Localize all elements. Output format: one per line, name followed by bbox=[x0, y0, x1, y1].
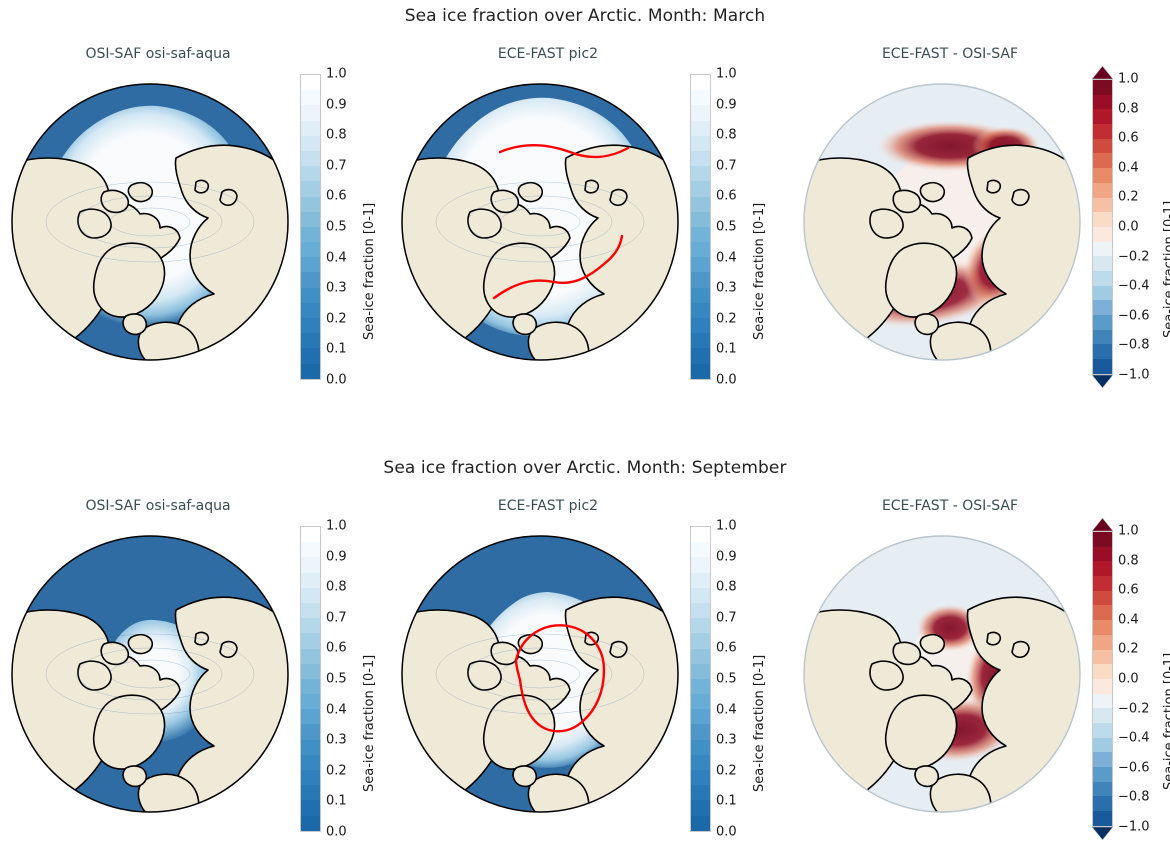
colorbar-band bbox=[691, 227, 710, 242]
colorbar-band bbox=[1093, 183, 1112, 198]
globe-svg bbox=[8, 72, 292, 372]
colorbar-tick-label: −0.2 bbox=[1118, 249, 1150, 264]
colorbar-band bbox=[691, 75, 710, 90]
colorbar-band bbox=[691, 318, 710, 333]
colorbar-tick-label: 0.4 bbox=[326, 250, 347, 265]
colorbar-tick-label: −1.0 bbox=[1118, 368, 1150, 383]
colorbar-tick-label: 1.0 bbox=[1118, 72, 1139, 87]
colorbar-band bbox=[691, 724, 710, 739]
colorbar-band bbox=[301, 272, 320, 287]
colorbar-tick-label: 0.4 bbox=[716, 250, 737, 265]
colorbar-band bbox=[691, 105, 710, 120]
row-suptitle-march: Sea ice fraction over Arctic. Month: Mar… bbox=[0, 6, 1170, 26]
colorbar-band bbox=[1093, 723, 1112, 738]
colorbar-band bbox=[301, 785, 320, 800]
colorbar-band bbox=[301, 573, 320, 588]
colorbar-band bbox=[691, 603, 710, 618]
colorbar-tick-label: 0.9 bbox=[716, 97, 737, 112]
colorbar-band bbox=[1093, 139, 1112, 154]
colorbar-tick-label: 0.8 bbox=[716, 128, 737, 143]
map-march-obs bbox=[8, 72, 292, 372]
colorbar-tick-label: 0.5 bbox=[716, 220, 737, 235]
colorbar-band bbox=[691, 755, 710, 770]
colorbar-band bbox=[691, 136, 710, 151]
colorbar-tick-label: 0.4 bbox=[1118, 160, 1139, 175]
colorbar-band bbox=[1093, 242, 1112, 257]
colorbar-band bbox=[1093, 532, 1112, 547]
colorbar-extend-top bbox=[1092, 66, 1113, 79]
colorbar-band bbox=[301, 121, 320, 136]
colorbar-band bbox=[691, 348, 710, 363]
colorbar-tick-label: 0.8 bbox=[326, 128, 347, 143]
colorbar-tick-label: 0.8 bbox=[1118, 553, 1139, 568]
colorbar-band bbox=[1093, 344, 1112, 359]
colorbar-tick-label: 1.0 bbox=[716, 67, 737, 82]
colorbar-band bbox=[691, 649, 710, 664]
colorbar-band bbox=[691, 618, 710, 633]
colorbar-axis-label: Sea-ice fraction [0-1] bbox=[752, 655, 767, 792]
colorbar-tick-label: −0.8 bbox=[1118, 338, 1150, 353]
colorbar-band bbox=[1093, 359, 1112, 374]
colorbar-tick-label: 0.0 bbox=[716, 825, 737, 840]
colorbar-band bbox=[1093, 330, 1112, 345]
colorbar-band bbox=[1093, 271, 1112, 286]
panel-title-march-difference: ECE-FAST - OSI-SAF bbox=[800, 46, 1100, 62]
colorbar-band bbox=[301, 679, 320, 694]
colorbar-band bbox=[1093, 547, 1112, 562]
colorbar-tick-label: 0.4 bbox=[716, 702, 737, 717]
colorbar-tick-label: −0.6 bbox=[1118, 760, 1150, 775]
colorbar-tick-label: 0.8 bbox=[1118, 101, 1139, 116]
colorbar-band bbox=[301, 603, 320, 618]
colorbar-band bbox=[1093, 124, 1112, 139]
colorbar-band bbox=[301, 755, 320, 770]
colorbar-band bbox=[1093, 708, 1112, 723]
colorbar-tick-label: 0.2 bbox=[716, 763, 737, 778]
colorbar-tick-label: 1.0 bbox=[326, 519, 347, 534]
colorbar-band bbox=[301, 800, 320, 815]
colorbar-extend-top bbox=[1092, 518, 1113, 531]
colorbar-band bbox=[691, 121, 710, 136]
colorbar-band bbox=[691, 166, 710, 181]
colorbar-band bbox=[301, 166, 320, 181]
colorbar-band bbox=[301, 364, 320, 379]
colorbar-band bbox=[1093, 796, 1112, 811]
colorbar-band bbox=[691, 151, 710, 166]
colorbar-tick-label: 1.0 bbox=[1118, 524, 1139, 539]
colorbar-tick-label: 1.0 bbox=[716, 519, 737, 534]
colorbar-band bbox=[691, 664, 710, 679]
globe-svg bbox=[398, 72, 682, 372]
colorbar-tick-label: 0.7 bbox=[716, 158, 737, 173]
colorbar-tick-label: 0.1 bbox=[716, 342, 737, 357]
colorbar-band bbox=[691, 272, 710, 287]
globe-svg bbox=[800, 72, 1084, 372]
colorbar-tick-label: −0.4 bbox=[1118, 279, 1150, 294]
colorbar-band bbox=[301, 333, 320, 348]
colorbar-tick-label: 0.4 bbox=[326, 702, 347, 717]
colorbar-band bbox=[691, 333, 710, 348]
colorbar-band bbox=[1093, 227, 1112, 242]
colorbar-band bbox=[1093, 782, 1112, 797]
colorbar-tick-label: 0.4 bbox=[1118, 612, 1139, 627]
colorbar-tick-label: −0.4 bbox=[1118, 731, 1150, 746]
colorbar-band bbox=[1093, 315, 1112, 330]
colorbar-gradient bbox=[1092, 79, 1113, 375]
colorbar-tick-label: 0.7 bbox=[326, 610, 347, 625]
colorbar-band bbox=[691, 770, 710, 785]
colorbar-ticks: 1.00.90.80.70.60.50.40.30.20.10.0 bbox=[716, 74, 776, 380]
colorbar-band bbox=[301, 105, 320, 120]
colorbar-band bbox=[1093, 198, 1112, 213]
colorbar-ticks: 1.00.90.80.70.60.50.40.30.20.10.0 bbox=[326, 526, 386, 832]
row-suptitle-september: Sea ice fraction over Arctic. Month: Sep… bbox=[0, 458, 1170, 478]
colorbar-band bbox=[1093, 650, 1112, 665]
colorbar-band bbox=[301, 649, 320, 664]
colorbar-tick-label: 0.6 bbox=[1118, 583, 1139, 598]
colorbar-band bbox=[1093, 153, 1112, 168]
map-september-obs bbox=[8, 524, 292, 824]
colorbar-band bbox=[1093, 811, 1112, 826]
colorbar-tick-label: 0.7 bbox=[716, 610, 737, 625]
colorbar-tick-label: 0.1 bbox=[326, 794, 347, 809]
colorbar-tick-label: 1.0 bbox=[326, 67, 347, 82]
colorbar-band bbox=[1093, 256, 1112, 271]
colorbar-band bbox=[301, 288, 320, 303]
colorbar-tick-label: 0.2 bbox=[326, 763, 347, 778]
colorbar-tick-label: 0.6 bbox=[716, 189, 737, 204]
colorbar-tick-label: −0.2 bbox=[1118, 701, 1150, 716]
colorbar-axis-label: Sea-ice fraction [0-1] bbox=[362, 203, 377, 340]
colorbar-tick-label: 0.1 bbox=[326, 342, 347, 357]
map-september-model bbox=[398, 524, 682, 824]
colorbar-band bbox=[1093, 561, 1112, 576]
panel-title-september-difference: ECE-FAST - OSI-SAF bbox=[800, 498, 1100, 514]
panel-march-difference: ECE-FAST - OSI-SAF bbox=[780, 46, 1170, 398]
colorbar-band bbox=[691, 242, 710, 257]
colorbar-tick-label: 0.9 bbox=[716, 549, 737, 564]
colorbar-band bbox=[691, 633, 710, 648]
panel-march-obs: OSI-SAF osi-saf-aqua bbox=[0, 46, 390, 398]
colorbar-tick-label: 0.0 bbox=[1118, 672, 1139, 687]
figure-row-march: Sea ice fraction over Arctic. Month: Mar… bbox=[0, 0, 1170, 422]
colorbar-band bbox=[301, 770, 320, 785]
colorbar-band bbox=[301, 633, 320, 648]
colorbar-band bbox=[301, 318, 320, 333]
colorbar-gradient bbox=[300, 74, 321, 380]
colorbar-tick-label: 0.1 bbox=[716, 794, 737, 809]
colorbar-tick-label: 0.2 bbox=[1118, 642, 1139, 657]
colorbar-band bbox=[301, 136, 320, 151]
colorbar-band bbox=[691, 364, 710, 379]
colorbar-tick-label: 0.9 bbox=[326, 549, 347, 564]
colorbar-tick-label: 0.6 bbox=[716, 641, 737, 656]
colorbar-band bbox=[301, 348, 320, 363]
colorbar-band bbox=[301, 694, 320, 709]
colorbar-band bbox=[301, 816, 320, 831]
colorbar-gradient bbox=[300, 526, 321, 832]
colorbar-band bbox=[1093, 694, 1112, 709]
colorbar-band bbox=[301, 227, 320, 242]
map-march-model bbox=[398, 72, 682, 372]
colorbar-band bbox=[301, 527, 320, 542]
colorbar-band bbox=[301, 588, 320, 603]
colorbar-tick-label: 0.2 bbox=[1118, 190, 1139, 205]
colorbar-band bbox=[301, 181, 320, 196]
colorbar-band bbox=[301, 151, 320, 166]
colorbar-band bbox=[301, 542, 320, 557]
colorbar-band bbox=[691, 197, 710, 212]
colorbar-axis-label: Sea-ice fraction [0-1] bbox=[1162, 653, 1170, 790]
colorbar-tick-label: −1.0 bbox=[1118, 820, 1150, 835]
colorbar-band bbox=[691, 527, 710, 542]
colorbar-band bbox=[1093, 738, 1112, 753]
colorbar-band bbox=[301, 75, 320, 90]
colorbar-band bbox=[691, 288, 710, 303]
colorbar-band bbox=[691, 800, 710, 815]
panel-title-september-model: ECE-FAST pic2 bbox=[398, 498, 698, 514]
figure-row-september: Sea ice fraction over Arctic. Month: Sep… bbox=[0, 422, 1170, 844]
colorbar-band bbox=[1093, 168, 1112, 183]
panel-title-march-model: ECE-FAST pic2 bbox=[398, 46, 698, 62]
globe-svg bbox=[8, 524, 292, 824]
colorbar-band bbox=[1093, 80, 1112, 95]
colorbar-extend-bottom bbox=[1092, 827, 1113, 840]
colorbar-gradient bbox=[690, 74, 711, 380]
colorbar-band bbox=[691, 257, 710, 272]
colorbar-tick-label: 0.0 bbox=[1118, 220, 1139, 235]
colorbar-band bbox=[691, 557, 710, 572]
panel-title-march-obs: OSI-SAF osi-saf-aqua bbox=[8, 46, 308, 62]
colorbar-tick-label: 0.3 bbox=[716, 733, 737, 748]
colorbar-ticks: 1.00.90.80.70.60.50.40.30.20.10.0 bbox=[326, 74, 386, 380]
panel-title-september-obs: OSI-SAF osi-saf-aqua bbox=[8, 498, 308, 514]
colorbar-tick-label: 0.8 bbox=[716, 580, 737, 595]
colorbar-ticks: 1.00.90.80.70.60.50.40.30.20.10.0 bbox=[716, 526, 776, 832]
colorbar-band bbox=[1093, 109, 1112, 124]
colorbar-band bbox=[691, 740, 710, 755]
colorbar-band bbox=[1093, 752, 1112, 767]
globe-svg bbox=[398, 524, 682, 824]
colorbar-band bbox=[1093, 591, 1112, 606]
globe-svg bbox=[800, 524, 1084, 824]
colorbar-tick-label: −0.6 bbox=[1118, 308, 1150, 323]
colorbar-band bbox=[1093, 605, 1112, 620]
colorbar-band bbox=[301, 664, 320, 679]
colorbar-tick-label: 0.6 bbox=[326, 641, 347, 656]
colorbar-band bbox=[691, 181, 710, 196]
colorbar-tick-label: 0.6 bbox=[326, 189, 347, 204]
colorbar-band bbox=[691, 679, 710, 694]
colorbar-gradient bbox=[690, 526, 711, 832]
colorbar-band bbox=[1093, 635, 1112, 650]
colorbar-band bbox=[1093, 576, 1112, 591]
colorbar-band bbox=[1093, 664, 1112, 679]
colorbar-tick-label: 0.3 bbox=[326, 281, 347, 296]
colorbar-tick-label: −0.8 bbox=[1118, 790, 1150, 805]
colorbar-band bbox=[301, 303, 320, 318]
colorbar-band bbox=[301, 90, 320, 105]
colorbar-tick-label: 0.0 bbox=[716, 373, 737, 388]
colorbar-band bbox=[691, 694, 710, 709]
colorbar-axis-label: Sea-ice fraction [0-1] bbox=[752, 203, 767, 340]
colorbar-tick-label: 0.3 bbox=[326, 733, 347, 748]
map-september-difference bbox=[800, 524, 1084, 824]
panel-september-obs: OSI-SAF osi-saf-aqua bbox=[0, 498, 390, 850]
colorbar-band bbox=[1093, 620, 1112, 635]
colorbar-band bbox=[691, 542, 710, 557]
colorbar-band bbox=[1093, 95, 1112, 110]
colorbar-band bbox=[301, 709, 320, 724]
colorbar-band bbox=[691, 212, 710, 227]
colorbar-band bbox=[301, 212, 320, 227]
colorbar-extend-bottom bbox=[1092, 375, 1113, 388]
colorbar-band bbox=[1093, 679, 1112, 694]
colorbar-tick-label: 0.6 bbox=[1118, 131, 1139, 146]
figure-root: Sea ice fraction over Arctic. Month: Mar… bbox=[0, 0, 1170, 844]
colorbar-band bbox=[691, 816, 710, 831]
colorbar-band bbox=[301, 257, 320, 272]
colorbar-tick-label: 0.5 bbox=[716, 672, 737, 687]
colorbar-axis-label: Sea-ice fraction [0-1] bbox=[362, 655, 377, 792]
colorbar-band bbox=[691, 303, 710, 318]
colorbar-band bbox=[691, 90, 710, 105]
panel-march-model: ECE-FAST pic2 bbox=[390, 46, 780, 398]
colorbar-tick-label: 0.2 bbox=[716, 311, 737, 326]
colorbar-tick-label: 0.2 bbox=[326, 311, 347, 326]
colorbar-band bbox=[1093, 300, 1112, 315]
colorbar-gradient bbox=[1092, 531, 1113, 827]
colorbar-band bbox=[301, 618, 320, 633]
colorbar-tick-label: 0.3 bbox=[716, 281, 737, 296]
colorbar-band bbox=[1093, 212, 1112, 227]
colorbar-band bbox=[301, 197, 320, 212]
colorbar-band bbox=[1093, 767, 1112, 782]
colorbar-band bbox=[1093, 286, 1112, 301]
colorbar-band bbox=[691, 588, 710, 603]
colorbar-band bbox=[301, 242, 320, 257]
colorbar-band bbox=[691, 573, 710, 588]
colorbar-band bbox=[691, 709, 710, 724]
map-march-difference bbox=[800, 72, 1084, 372]
colorbar-band bbox=[301, 740, 320, 755]
colorbar-band bbox=[691, 785, 710, 800]
colorbar-tick-label: 0.5 bbox=[326, 220, 347, 235]
panel-september-difference: ECE-FAST - OSI-SAF bbox=[780, 498, 1170, 850]
panel-september-model: ECE-FAST pic2 bbox=[390, 498, 780, 850]
colorbar-tick-label: 0.8 bbox=[326, 580, 347, 595]
colorbar-tick-label: 0.7 bbox=[326, 158, 347, 173]
colorbar-band bbox=[301, 724, 320, 739]
colorbar-band bbox=[301, 557, 320, 572]
colorbar-axis-label: Sea-ice fraction [0-1] bbox=[1162, 201, 1170, 338]
colorbar-tick-label: 0.9 bbox=[326, 97, 347, 112]
colorbar-tick-label: 0.0 bbox=[326, 825, 347, 840]
colorbar-tick-label: 0.0 bbox=[326, 373, 347, 388]
colorbar-tick-label: 0.5 bbox=[326, 672, 347, 687]
